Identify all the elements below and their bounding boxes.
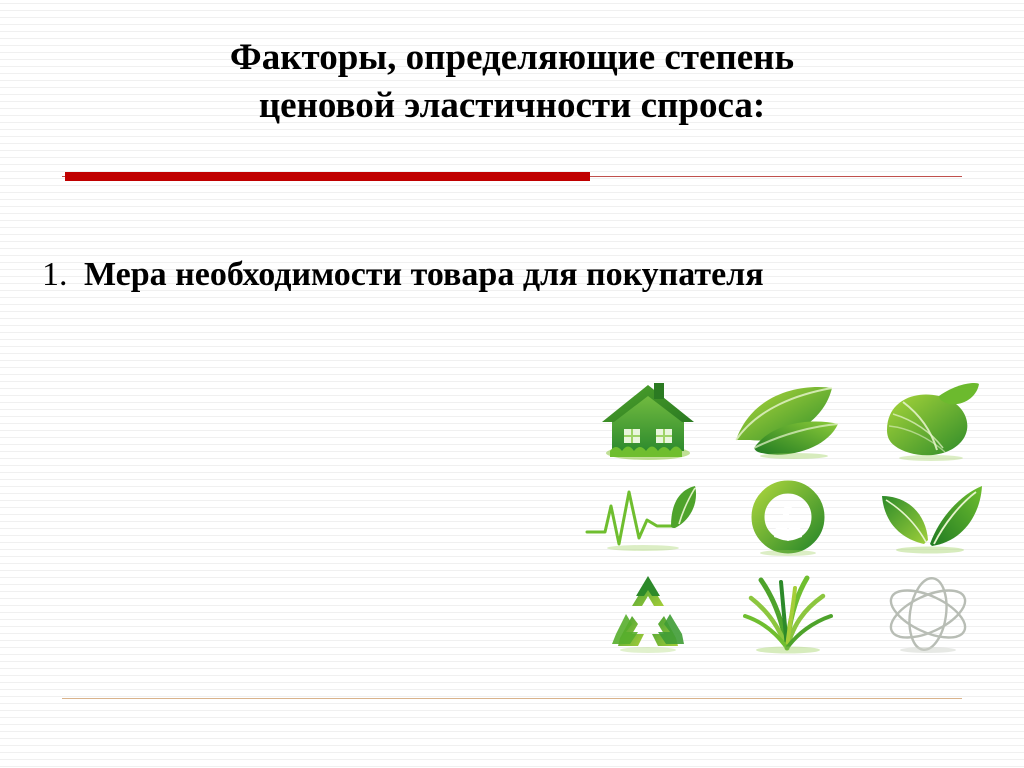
page-title: Факторы, определяющие степень ценовой эл… [62,34,962,130]
heartbeat-leaf-icon [583,480,713,560]
icon-collection [578,372,998,662]
title-divider-thick [65,172,590,181]
icon-cell-two-leaves [720,376,856,468]
icon-cell-grass [720,569,856,661]
two-leaves-icon [728,382,848,462]
icon-cell-recycle-circle [720,474,856,566]
title-divider [62,170,962,182]
recycle-triangle-icon [598,572,698,657]
leaf-circle-icon [873,380,983,465]
icon-cell-house [580,376,716,468]
icon-cell-recycle-triangle [580,569,716,661]
footer-divider [62,698,962,699]
title-line-1: Факторы, определяющие степень [62,34,962,82]
icon-cell-heartbeat [580,474,716,566]
list-item-number: 1. [42,252,84,298]
title-line-2: ценовой эластичности спроса: [62,82,962,130]
icon-cell-sprout [860,474,996,566]
grass-icon [733,572,843,657]
sprout-leaves-icon [868,480,988,560]
eco-house-icon [588,377,708,467]
recycle-circle-icon [738,477,838,562]
atom-orbit-icon [873,572,983,657]
list-item: 1. Мера необходимости товара для покупат… [42,252,882,298]
slide-canvas: Факторы, определяющие степень ценовой эл… [0,0,1024,768]
icon-cell-atom [860,569,996,661]
icon-cell-leaf-circle [860,376,996,468]
list-item-label: Мера необходимости товара для покупателя [84,252,764,298]
